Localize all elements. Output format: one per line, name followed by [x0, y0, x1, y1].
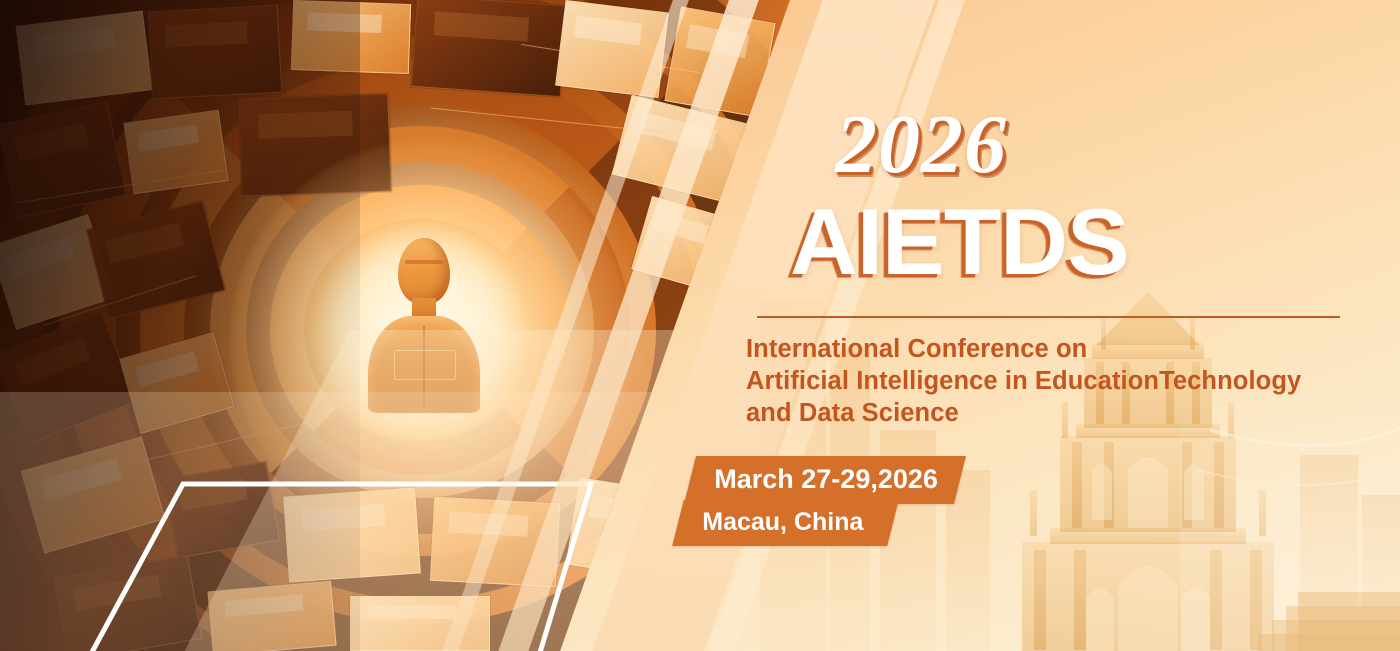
subtitle-line-1: International Conference on: [746, 333, 1366, 365]
subtitle-line-2: Artificial Intelligence in EducationTech…: [746, 365, 1366, 397]
title-divider-rule: [757, 316, 1340, 318]
conference-banner: 2026 AIETDS International Conference on …: [0, 0, 1400, 651]
conference-acronym: AIETDS: [790, 195, 1129, 289]
conference-location-text: Macau, China: [702, 506, 863, 538]
conference-full-title: International Conference on Artificial I…: [746, 333, 1366, 429]
conference-date-badge: March 27-29,2026: [684, 456, 966, 504]
conference-date-text: March 27-29,2026: [714, 462, 938, 496]
banner-text-content: 2026 AIETDS International Conference on …: [0, 0, 1400, 651]
subtitle-line-3: and Data Science: [746, 397, 1366, 429]
conference-year: 2026: [835, 103, 1007, 187]
conference-location-badge: Macau, China: [672, 500, 899, 546]
